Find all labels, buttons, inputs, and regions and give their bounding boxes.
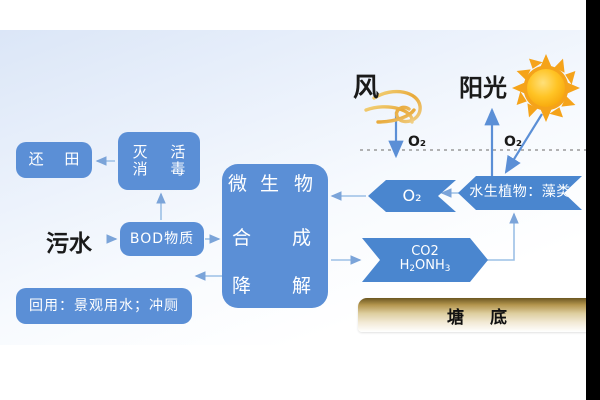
label-oxygen-in: O₂ [404,132,430,152]
diagram-stage: 还 田 灭 活 消 毒 BOD物质 回用：景观用水；冲厕 微 生 物 合 成 降… [0,0,600,400]
microbial-process-characters: 微 生 物 合 成 降 解 [222,164,328,308]
node-inactivation-disinfection[interactable]: 灭 活 消 毒 [118,132,200,190]
node-disinfection-label: 消 毒 [124,161,195,178]
node-bod-substance[interactable]: BOD物质 [120,222,204,256]
char-synth-1: 合 [232,228,252,250]
chevron-aquatic-plants[interactable]: 水生植物：藻类 [458,176,582,210]
label-wind: 风 [348,68,384,102]
char-bio: 生 [260,174,280,196]
char-micro: 微 [228,174,248,196]
char-degrade-2: 解 [292,276,312,298]
sun-icon [512,54,580,122]
chevron-aquatic-plants-label: 水生植物：藻类 [469,185,571,200]
node-reuse[interactable]: 回用：景观用水；冲厕 [16,288,192,324]
char-degrade-1: 降 [232,276,252,298]
diagram-canvas: 还 田 灭 活 消 毒 BOD物质 回用：景观用水；冲厕 微 生 物 合 成 降… [0,30,586,345]
chevron-co2-label: CO2 [411,245,439,259]
connector-co2-to-plants [486,214,514,260]
chevron-co2-products[interactable]: CO2 H2ONH3 [362,238,488,282]
node-reuse-label: 回用：景观用水；冲厕 [29,298,179,314]
pond-bottom-label: 塘 底 [447,303,517,328]
label-sunlight: 阳光 [452,68,514,102]
label-wastewater: 污水 [32,226,106,256]
label-oxygen-out: O₂ [500,132,526,152]
chevron-co2-formula: H2ONH3 [400,259,451,275]
pond-bottom-bar: 塘 底 [358,298,586,332]
node-microbial-process[interactable]: 微 生 物 合 成 降 解 [222,164,328,308]
char-organism: 物 [294,174,314,196]
node-return-to-field[interactable]: 还 田 [16,142,92,178]
node-return-to-field-label: 还 田 [21,151,88,168]
chevron-oxygen-label: O₂ [402,187,421,205]
char-synth-2: 成 [292,228,312,250]
right-edge-strip [586,0,600,400]
node-bod-label: BOD物质 [130,231,194,247]
node-inactivation-label: 灭 活 [124,144,195,161]
